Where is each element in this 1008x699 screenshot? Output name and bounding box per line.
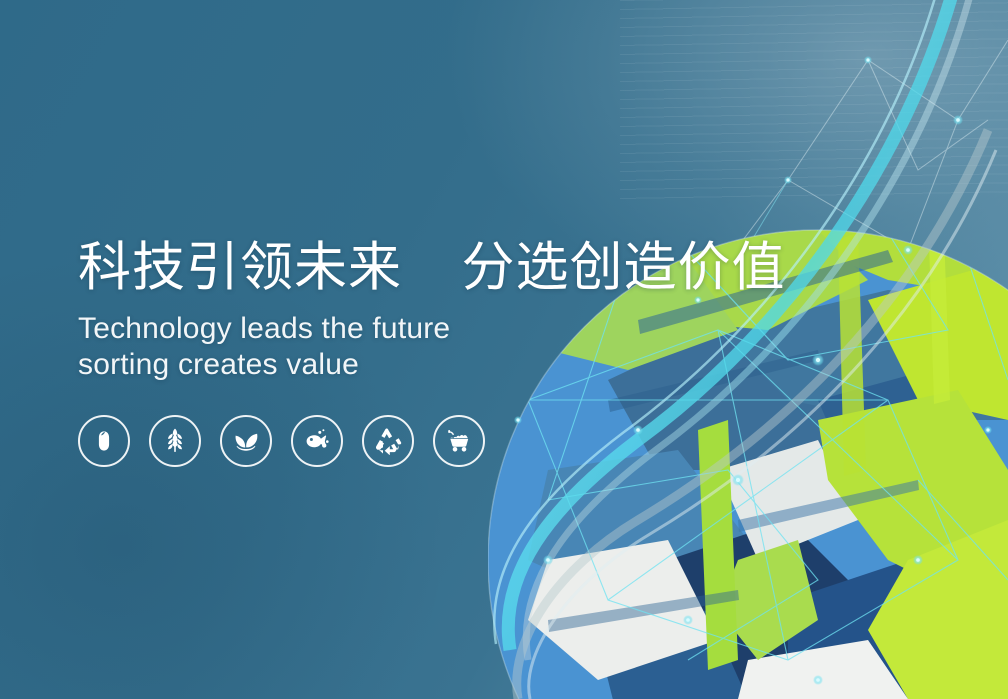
globe-facets: [488, 120, 1008, 699]
rice-grain-icon[interactable]: [78, 415, 130, 467]
banner-copy: 科技引领未来 分选创造价值 Technology leads the futur…: [78, 238, 778, 382]
wheat-icon[interactable]: [149, 415, 201, 467]
subtitle-line-2: sorting creates value: [78, 347, 778, 382]
hero-banner: 科技引领未来 分选创造价值 Technology leads the futur…: [0, 0, 1008, 699]
fish-icon[interactable]: [291, 415, 343, 467]
headline-chinese: 科技引领未来 分选创造价值: [78, 238, 778, 297]
recycle-icon[interactable]: [362, 415, 414, 467]
mining-cart-icon[interactable]: [433, 415, 485, 467]
headline-part-2: 分选创造价值: [461, 238, 785, 297]
subtitle-line-1: Technology leads the future: [78, 311, 778, 346]
headline-part-1: 科技引领未来: [78, 238, 402, 297]
subtitle-english: Technology leads the future sorting crea…: [78, 311, 778, 382]
tea-leaf-icon[interactable]: [220, 415, 272, 467]
industry-icon-row: [78, 415, 485, 467]
